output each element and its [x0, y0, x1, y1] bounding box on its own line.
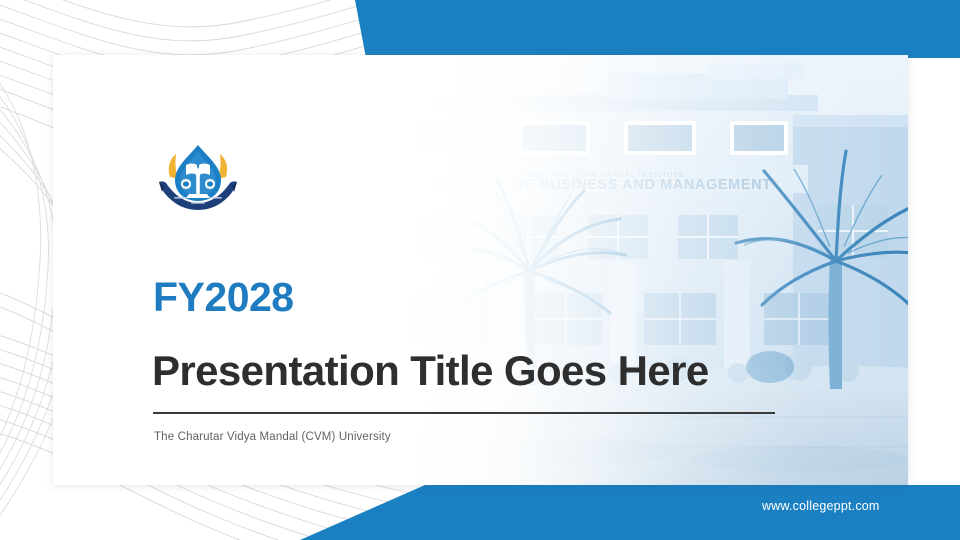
fiscal-year-label: FY2028: [153, 277, 294, 318]
top-blue-band: [0, 0, 960, 58]
campus-building-photo: CHARUTAR VIDYA MANDAL INSTITUTE COLLEGE …: [378, 55, 908, 485]
building-sign-main: COLLEGE OF BUSINESS AND MANAGEMENT: [434, 177, 771, 193]
university-emblem-icon: [153, 141, 243, 215]
presentation-slide: CHARUTAR VIDYA MANDAL INSTITUTE COLLEGE …: [0, 0, 960, 540]
slide-card: CHARUTAR VIDYA MANDAL INSTITUTE COLLEGE …: [53, 55, 908, 485]
page-title: Presentation Title Goes Here: [152, 349, 709, 393]
title-divider: [153, 412, 775, 414]
footer-website-url[interactable]: www.collegeppt.com: [762, 499, 880, 513]
university-name: The Charutar Vidya Mandal (CVM) Universi…: [154, 431, 391, 443]
